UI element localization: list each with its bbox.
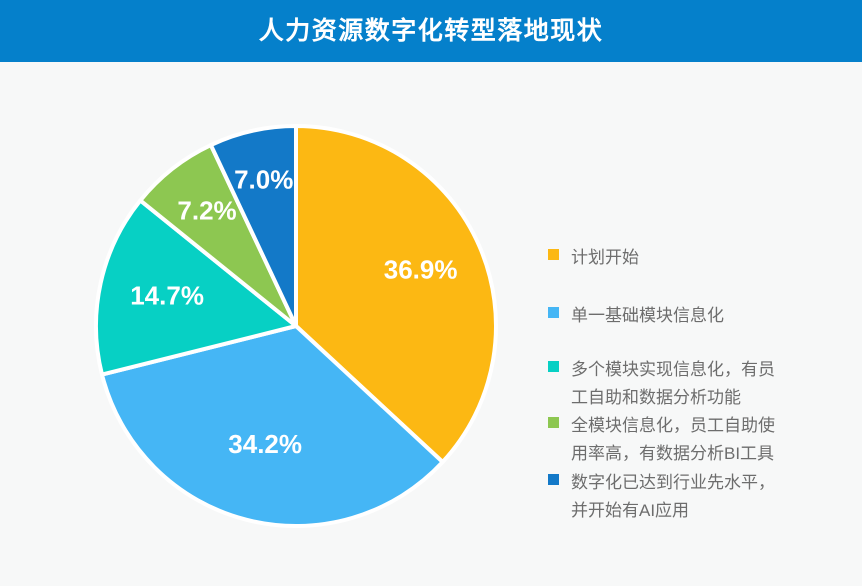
legend-item-label: 全模块信息化，员工自助使 用率高，有数据分析BI工具: [571, 412, 775, 468]
pie-slice-label: 34.2%: [228, 429, 302, 459]
pie-slice-group: [96, 126, 496, 526]
page-title: 人力资源数字化转型落地现状: [259, 19, 604, 44]
chart-page: 人力资源数字化转型落地现状 36.9%34.2%14.7%7.2%7.0% 计划…: [0, 0, 862, 586]
pie-chart-svg: 36.9%34.2%14.7%7.2%7.0%: [96, 126, 496, 526]
legend-item-label: 单一基础模块信息化: [571, 302, 724, 330]
legend-swatch-icon: [548, 361, 559, 372]
legend-item-label: 多个模块实现信息化，有员 工自助和数据分析功能: [571, 356, 775, 412]
pie-slice-label: 36.9%: [384, 254, 458, 284]
pie-chart: 36.9%34.2%14.7%7.2%7.0%: [96, 126, 496, 526]
legend-swatch-icon: [548, 417, 559, 428]
pie-slice-label: 7.0%: [234, 164, 293, 194]
legend-swatch-icon: [548, 307, 559, 318]
legend-swatch-icon: [548, 474, 559, 485]
legend-item[interactable]: 数字化已达到行业先水平， 并开始有AI应用: [548, 469, 775, 525]
pie-slice-label: 7.2%: [177, 196, 236, 226]
pie-slice-label: 14.7%: [130, 280, 204, 310]
legend-item[interactable]: 单一基础模块信息化: [548, 302, 724, 330]
legend-item[interactable]: 计划开始: [548, 244, 639, 272]
legend-item-label: 计划开始: [571, 244, 639, 272]
chart-body: 36.9%34.2%14.7%7.2%7.0% 计划开始单一基础模块信息化多个模…: [0, 62, 862, 586]
legend-item[interactable]: 多个模块实现信息化，有员 工自助和数据分析功能: [548, 356, 775, 412]
legend-item-label: 数字化已达到行业先水平， 并开始有AI应用: [571, 469, 775, 525]
legend-item[interactable]: 全模块信息化，员工自助使 用率高，有数据分析BI工具: [548, 412, 775, 468]
legend-swatch-icon: [548, 249, 559, 260]
title-banner: 人力资源数字化转型落地现状: [0, 0, 862, 62]
